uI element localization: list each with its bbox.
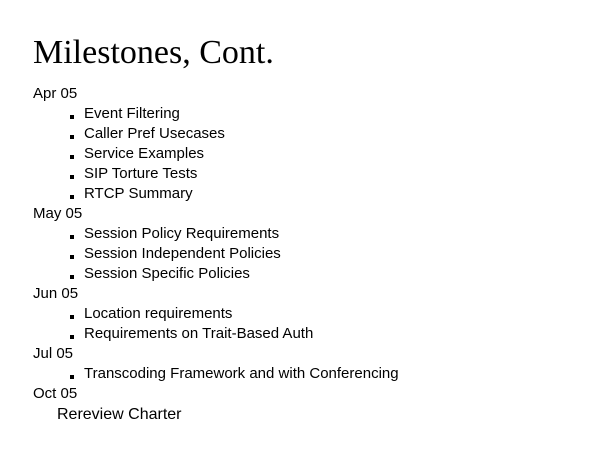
slide-content-body: Apr 05 Event Filtering Caller Pref Useca…	[0, 84, 600, 426]
square-bullet-icon	[70, 155, 74, 159]
list-item-label: RTCP Summary	[84, 185, 193, 202]
milestone-group: Jul 05 Transcoding Framework and with Co…	[0, 344, 600, 384]
list-item-label: Session Independent Policies	[84, 245, 281, 262]
month-heading: May 05	[0, 204, 600, 224]
list-item-label: Event Filtering	[84, 105, 180, 122]
square-bullet-icon	[70, 315, 74, 319]
list-item: Session Independent Policies	[0, 244, 600, 264]
list-item-label: Session Policy Requirements	[84, 225, 279, 242]
milestone-item-list: Location requirements Requirements on Tr…	[0, 304, 600, 344]
list-item: SIP Torture Tests	[0, 164, 600, 184]
list-item: Event Filtering	[0, 104, 600, 124]
list-item-label: Caller Pref Usecases	[84, 125, 225, 142]
milestone-group: Jun 05 Location requirements Requirement…	[0, 284, 600, 344]
square-bullet-icon	[70, 195, 74, 199]
list-item-label: Rereview Charter	[57, 406, 181, 423]
milestone-item-list: Rereview Charter	[0, 404, 600, 426]
milestone-group: May 05 Session Policy Requirements Sessi…	[0, 204, 600, 284]
page-title: Milestones, Cont.	[33, 33, 274, 73]
milestone-item-list: Transcoding Framework and with Conferenc…	[0, 364, 600, 384]
month-heading: Apr 05	[0, 84, 600, 104]
list-item-label: Transcoding Framework and with Conferenc…	[84, 365, 399, 382]
list-item: RTCP Summary	[0, 184, 600, 204]
list-item-label: Location requirements	[84, 305, 232, 322]
milestone-item-list: Session Policy Requirements Session Inde…	[0, 224, 600, 284]
list-item: Transcoding Framework and with Conferenc…	[0, 364, 600, 384]
month-heading: Oct 05	[0, 384, 600, 404]
square-bullet-icon	[70, 335, 74, 339]
list-item: Rereview Charter	[0, 404, 600, 426]
month-heading: Jul 05	[0, 344, 600, 364]
square-bullet-icon	[70, 235, 74, 239]
milestone-group: Apr 05 Event Filtering Caller Pref Useca…	[0, 84, 600, 204]
list-item-label: Requirements on Trait-Based Auth	[84, 325, 313, 342]
list-item: Session Specific Policies	[0, 264, 600, 284]
square-bullet-icon	[70, 175, 74, 179]
list-item: Service Examples	[0, 144, 600, 164]
square-bullet-icon	[70, 275, 74, 279]
milestone-item-list: Event Filtering Caller Pref Usecases Ser…	[0, 104, 600, 204]
list-item-label: Service Examples	[84, 145, 204, 162]
list-item-label: Session Specific Policies	[84, 265, 250, 282]
list-item: Caller Pref Usecases	[0, 124, 600, 144]
list-item: Requirements on Trait-Based Auth	[0, 324, 600, 344]
list-item-label: SIP Torture Tests	[84, 165, 197, 182]
milestone-group: Oct 05 Rereview Charter	[0, 384, 600, 426]
slide-canvas: Milestones, Cont. Apr 05 Event Filtering…	[0, 0, 600, 450]
month-heading: Jun 05	[0, 284, 600, 304]
square-bullet-icon	[70, 115, 74, 119]
list-item: Location requirements	[0, 304, 600, 324]
square-bullet-icon	[70, 375, 74, 379]
square-bullet-icon	[70, 135, 74, 139]
list-item: Session Policy Requirements	[0, 224, 600, 244]
square-bullet-icon	[70, 255, 74, 259]
